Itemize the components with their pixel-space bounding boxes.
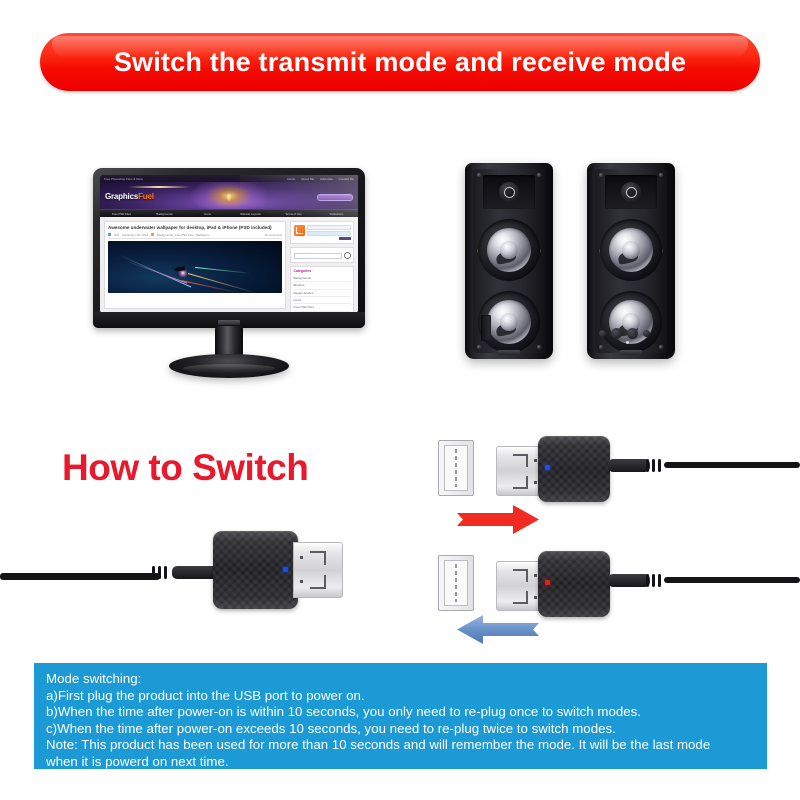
tweeter-driver — [499, 182, 519, 202]
cable-strain-relief — [608, 459, 650, 472]
cone-shadow — [495, 321, 517, 337]
site-tagline: Free Photoshop Files & More — [104, 177, 143, 181]
tweeter-housing — [483, 175, 535, 209]
usb-contact-mark — [513, 569, 528, 582]
top-link-3[interactable]: Contact Me — [339, 177, 354, 181]
light-beam — [195, 267, 250, 274]
header-banner: Switch the transmit mode and receive mod… — [40, 33, 760, 91]
cable-coil — [658, 574, 661, 587]
site-top-nav: Home About Me Advertise Contact Me — [287, 177, 354, 181]
page-title: Switch the transmit mode and receive mod… — [114, 47, 686, 78]
site-body: Awesome underwater wallpaper for desktop… — [100, 217, 358, 312]
category-item[interactable]: Backgrounds — [294, 275, 351, 282]
control-knobs — [599, 328, 650, 339]
article-author: Rafi — [114, 233, 119, 237]
instruction-line: b)When the time after power-on is within… — [46, 704, 757, 721]
sidebar-heading: Categories — [294, 269, 351, 273]
usb-contact-mark — [513, 591, 528, 604]
receive-mode-diagram — [430, 543, 800, 621]
screw-icon — [599, 173, 603, 177]
receive-direction-arrow — [455, 613, 545, 647]
site-hero: GraphicsFuel — [100, 182, 358, 209]
power-led — [626, 341, 629, 344]
categories-widget: Categories Backgrounds Brushes Design Ar… — [290, 266, 354, 312]
usb-contact-mark — [513, 454, 528, 467]
rss-row — [294, 225, 351, 241]
search-icon[interactable] — [344, 252, 351, 259]
arrow-left-icon — [455, 613, 545, 647]
article-title: Awesome underwater wallpaper for desktop… — [108, 225, 282, 231]
speaker-cone — [609, 228, 653, 272]
usb-pin-dot — [534, 459, 537, 462]
category-item[interactable]: Free PSD Files — [294, 304, 351, 311]
cable-coil — [646, 459, 649, 472]
speaker-cone — [487, 228, 531, 272]
top-link-1[interactable]: About Me — [301, 177, 314, 181]
adapter-cable — [664, 462, 800, 468]
article-comments: 20 Comments — [265, 233, 282, 237]
knob-icon[interactable] — [627, 328, 638, 339]
nav-item-1[interactable]: Backgrounds — [143, 212, 186, 216]
article-image — [108, 241, 282, 293]
speaker-pair — [465, 163, 675, 368]
cable-coil — [164, 566, 167, 579]
main-adapter-illustration — [0, 523, 380, 623]
subscribe-fields — [307, 225, 351, 241]
search-widget — [290, 247, 354, 263]
site-nav: Free PSD Files Backgrounds Icons Website… — [100, 209, 358, 217]
instruction-line: c)When the time after power-on exceeds 1… — [46, 721, 757, 738]
screw-icon — [477, 173, 481, 177]
screw-icon — [477, 345, 481, 349]
instruction-line: when it is powerd on next time. — [46, 754, 757, 771]
how-to-switch-title: How to Switch — [62, 447, 308, 489]
cable-coil — [652, 459, 655, 472]
cone-shadow — [617, 249, 639, 265]
category-item[interactable]: Fonts — [294, 297, 351, 304]
search-input[interactable] — [294, 253, 342, 259]
screw-icon — [537, 173, 541, 177]
submit-button[interactable] — [339, 237, 351, 240]
monitor-base-highlight — [183, 364, 275, 373]
usb-port-inner — [444, 445, 468, 491]
top-link-2[interactable]: Advertise — [320, 177, 333, 181]
status-led-red — [545, 580, 550, 585]
logo-part-2: Fuel — [138, 192, 154, 201]
screw-icon — [659, 345, 663, 349]
knob-icon[interactable] — [599, 330, 606, 337]
transmit-mode-diagram — [430, 428, 800, 506]
transmit-direction-arrow — [455, 503, 545, 537]
article-meta: Rafi September 4th, 2012 Backgrounds, Fr… — [108, 233, 282, 240]
instruction-line: a)First plug the product into the USB po… — [46, 688, 757, 705]
speaker-brand-plate — [620, 350, 642, 355]
knob-icon[interactable] — [611, 328, 622, 339]
nav-item-5[interactable]: Collections — [315, 212, 358, 216]
cone-shadow — [495, 249, 517, 265]
status-led-blue — [545, 465, 550, 470]
usb-port-receptacle — [438, 440, 474, 496]
monitor-illustration: Free Photoshop Files & More Home About M… — [93, 168, 365, 368]
instruction-line: Note: This product has been used for mor… — [46, 737, 757, 754]
speaker-brand-plate — [498, 350, 520, 355]
author-icon — [108, 233, 111, 236]
status-led-blue — [283, 567, 288, 572]
usb-a-plug — [293, 542, 343, 598]
usb-contact-mark — [310, 551, 326, 565]
cable-coil — [658, 459, 661, 472]
usb-contact-mark — [310, 575, 326, 589]
usb-pin-dot — [534, 596, 537, 599]
usb-port-receptacle — [438, 555, 474, 611]
woofer-driver — [600, 219, 662, 281]
mode-switching-instructions: Mode switching: a)First plug the product… — [34, 663, 767, 769]
monitor-bezel: Free Photoshop Files & More Home About M… — [93, 168, 365, 328]
usb-pin-dot — [300, 580, 303, 583]
nav-item-3[interactable]: Website Layouts — [229, 212, 272, 216]
cable-coil — [646, 574, 649, 587]
speaker-left — [465, 163, 553, 359]
subscribe-button[interactable] — [317, 194, 353, 201]
screw-icon — [599, 345, 603, 349]
usb-pin-dot — [300, 556, 303, 559]
usb-pin-dot — [534, 481, 537, 484]
screw-icon — [537, 345, 541, 349]
cable-strain-relief — [608, 574, 650, 587]
monitor-brand-logo — [218, 320, 240, 325]
bass-port — [481, 315, 491, 341]
speaker-cone — [487, 300, 531, 344]
adapter-cable — [664, 577, 800, 583]
hero-light-bar — [128, 186, 190, 188]
logo-part-1: Graphics — [105, 192, 138, 201]
category-item[interactable]: Brushes — [294, 282, 351, 289]
arrow-right-icon — [455, 503, 545, 537]
speaker-right — [587, 163, 675, 359]
usb-contact-mark — [513, 476, 528, 489]
email-field[interactable] — [307, 225, 351, 230]
adapter-cable — [0, 573, 160, 580]
nav-item-0[interactable]: Free PSD Files — [100, 212, 143, 216]
article-date: September 4th, 2012 — [122, 233, 148, 237]
site-topbar: Free Photoshop Files & More Home About M… — [100, 175, 358, 182]
cable-coil — [158, 566, 161, 579]
subscribe-widget — [290, 221, 354, 244]
woofer-driver — [478, 219, 540, 281]
site-article: Awesome underwater wallpaper for desktop… — [104, 221, 286, 309]
top-link-0[interactable]: Home — [287, 177, 295, 181]
nav-item-2[interactable]: Icons — [186, 212, 229, 216]
nav-item-4[interactable]: Terms of Use — [272, 212, 315, 216]
tweeter-housing — [605, 175, 657, 209]
article-categories: Backgrounds, Free PSD Files, Wallpapers — [157, 233, 209, 237]
woofer-driver — [600, 291, 662, 353]
cable-coil — [152, 566, 155, 579]
cable-coil — [652, 574, 655, 587]
site-logo: GraphicsFuel — [105, 192, 154, 201]
knob-icon[interactable] — [643, 330, 650, 337]
usb-port-inner — [444, 560, 468, 606]
website-mockup: Free Photoshop Files & More Home About M… — [100, 175, 358, 312]
instruction-line: Mode switching: — [46, 671, 757, 688]
category-item[interactable]: Design Articles — [294, 290, 351, 297]
infographic-canvas: Switch the transmit mode and receive mod… — [0, 0, 800, 800]
rss-icon[interactable] — [294, 225, 305, 236]
social-field[interactable] — [307, 231, 351, 236]
folder-icon — [151, 233, 154, 236]
site-sidebar: Categories Backgrounds Brushes Design Ar… — [290, 221, 354, 309]
monitor-screen: Free Photoshop Files & More Home About M… — [100, 175, 358, 312]
search-row — [294, 252, 351, 259]
tweeter-driver — [621, 182, 641, 202]
screw-icon — [659, 173, 663, 177]
usb-pin-dot — [534, 574, 537, 577]
